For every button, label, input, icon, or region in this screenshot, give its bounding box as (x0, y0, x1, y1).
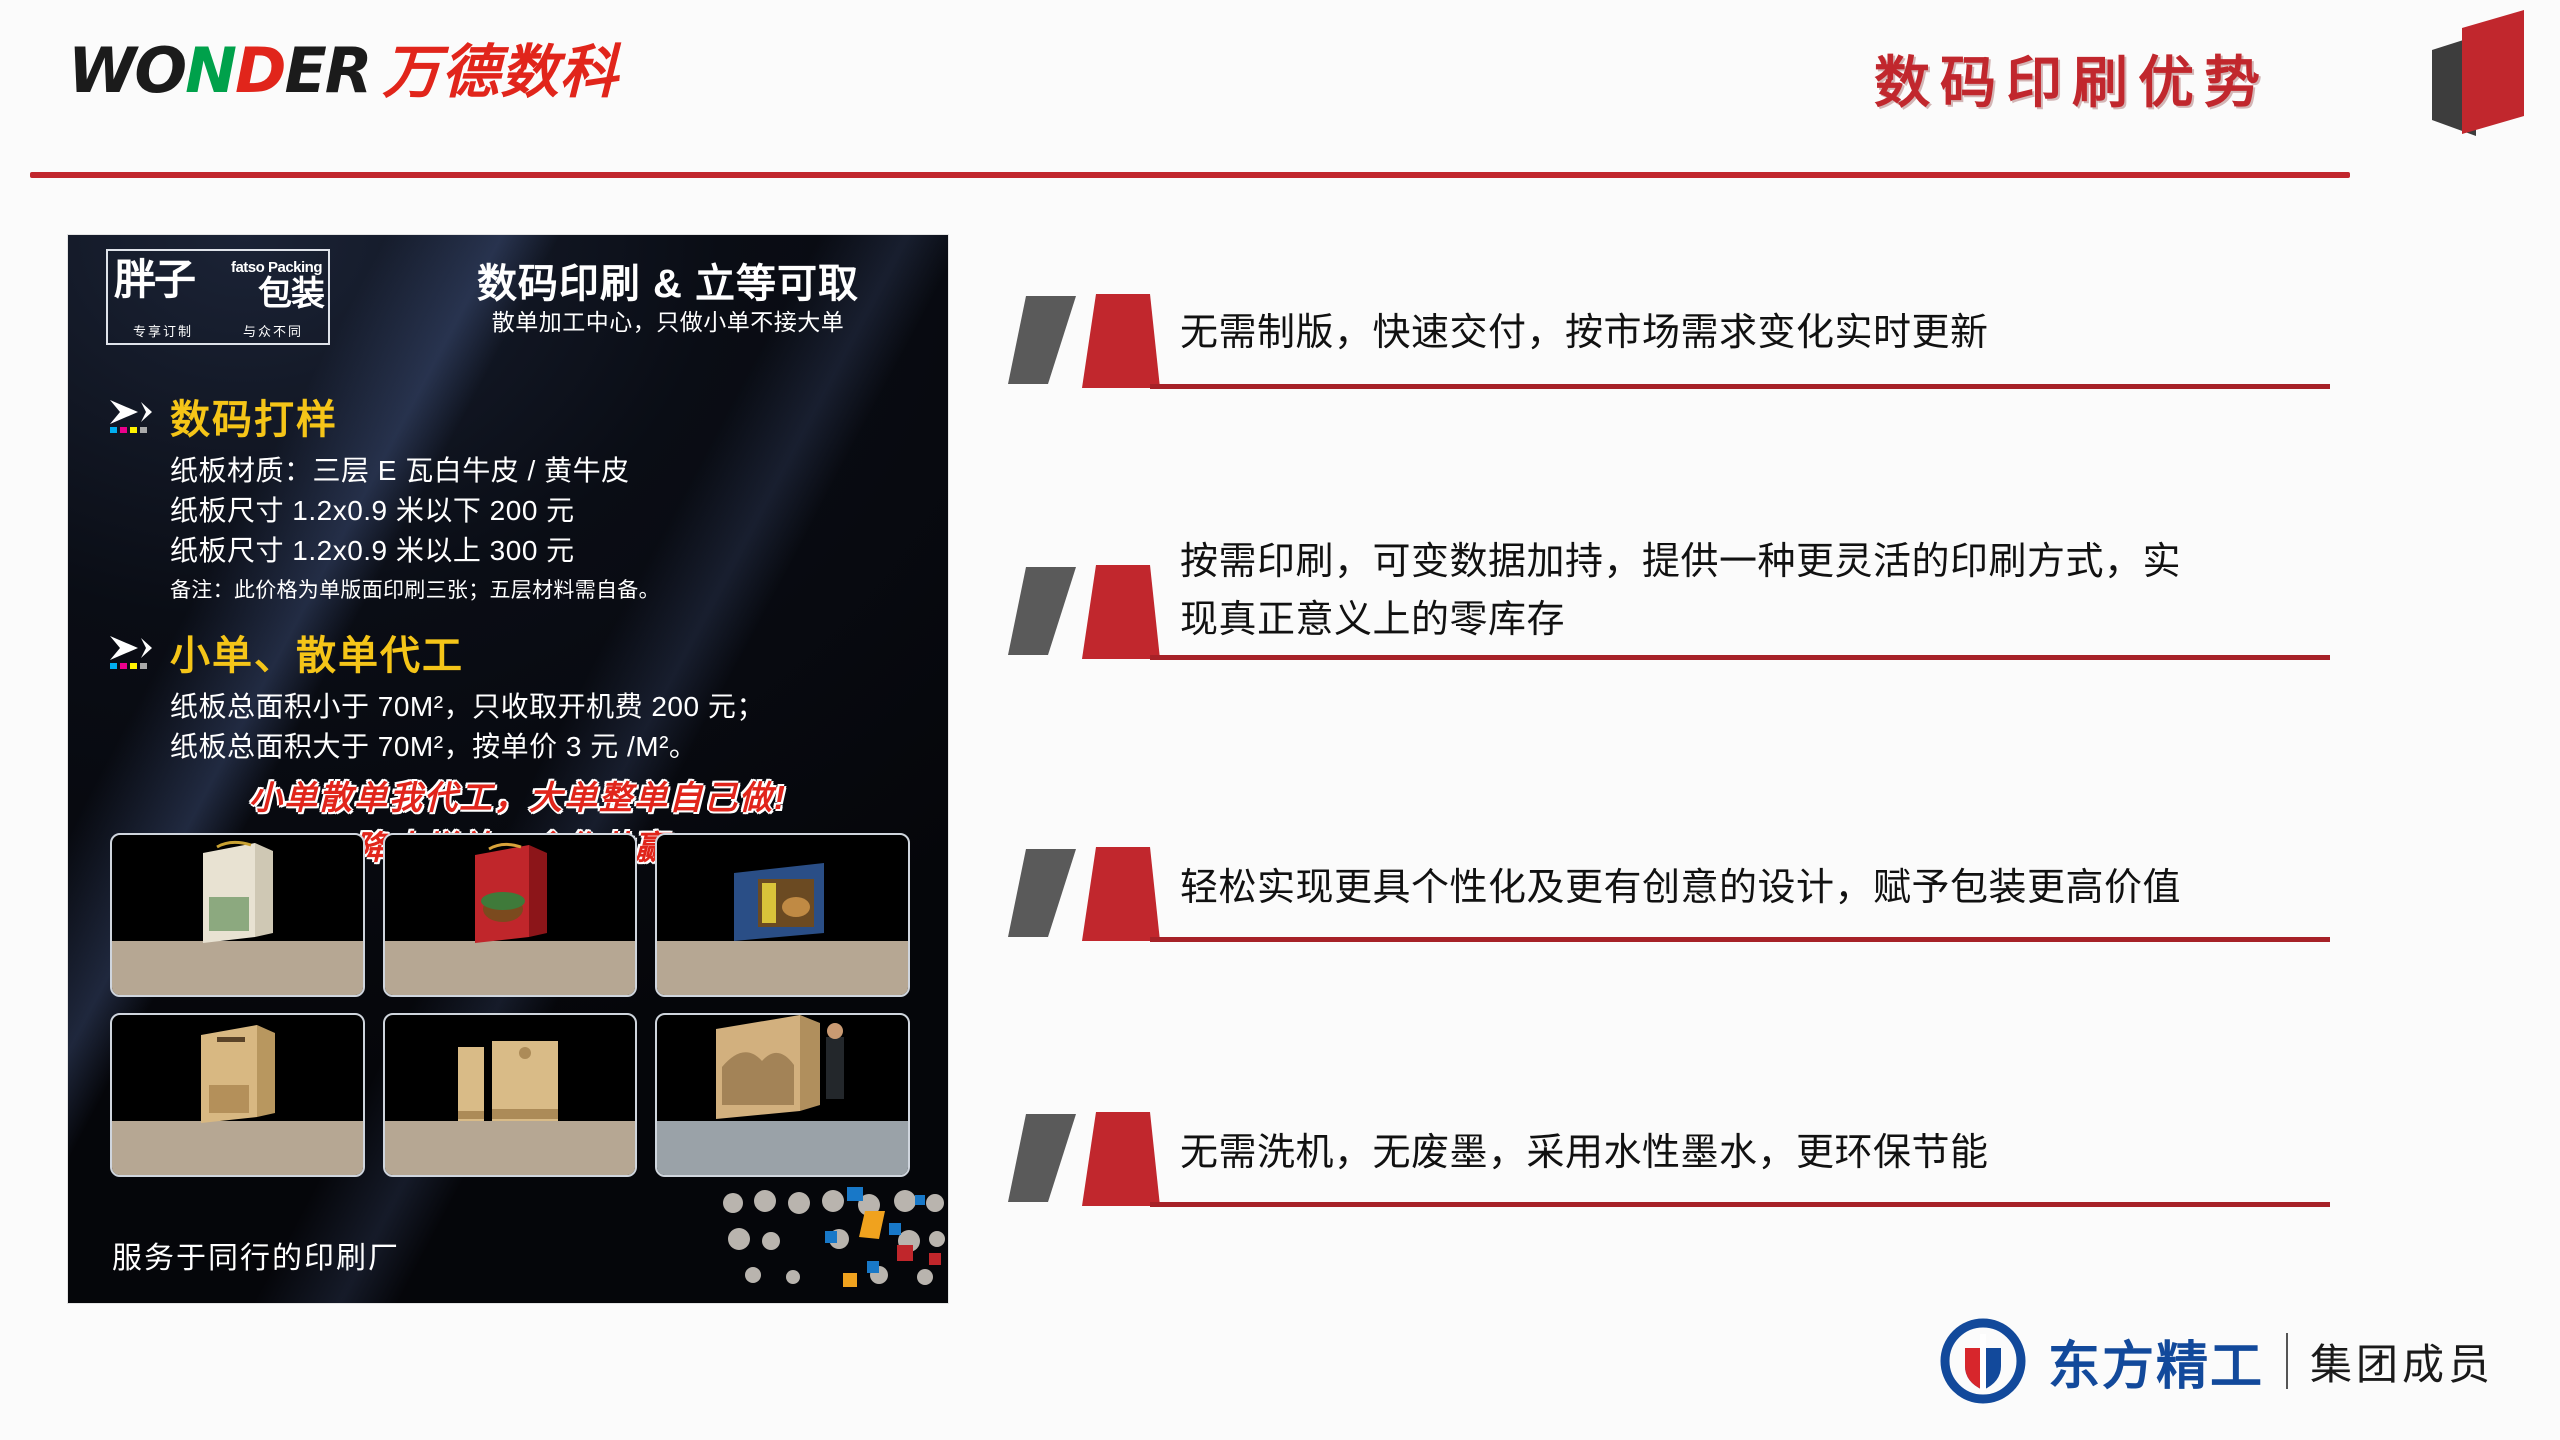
fatso-sub-left: 专享订制 (133, 321, 193, 340)
kraft-box-illustration (191, 1015, 283, 1127)
double-bar-marker-icon (1000, 563, 1175, 661)
fatso-logo-main: 胖子 (114, 259, 194, 301)
product-photo-beef-carton-box (655, 833, 910, 997)
honey-box-illustration (193, 837, 281, 947)
photo-row (110, 833, 910, 997)
bullet-text: 无需洗机，无废墨，采用水性墨水，更环保节能 (1180, 1126, 2330, 1181)
poster-section-digital-proofing: 数码打样 纸板材质：三层 E 瓦白牛皮 / 黄牛皮 纸板尺寸 1.2x0.9 米… (108, 387, 928, 604)
footer-membership-label: 集团成员 (2310, 1331, 2494, 1392)
bullet-text: 无需制版，快速交付，按市场需求变化实时更新 (1180, 306, 2330, 361)
section-heading: 数码打样 (108, 387, 928, 445)
poster-subheadline: 散单加工中心，只做小单不接大单 (398, 303, 938, 337)
footer-divider (2286, 1333, 2288, 1389)
bullet-underline (1150, 937, 2330, 942)
double-bar-marker-icon (1000, 845, 1175, 943)
poster-headline: 数码印刷 & 立等可取 (398, 251, 938, 309)
fatso-logo-subtitle: 专享订制 与众不同 (108, 321, 328, 340)
arrow-bullet-icon (108, 396, 154, 436)
bullet-text: 按需印刷，可变数据加持，提供一种更灵活的印刷方式，实 (1180, 535, 2330, 590)
section-line: 纸板材质：三层 E 瓦白牛皮 / 黄牛皮 (108, 451, 928, 491)
section-note: 备注：此价格为单版面印刷三张；五层材料需自备。 (108, 574, 928, 604)
poster-section-small-order-oem: 小单、散单代工 纸板总面积小于 70M²，只收取开机费 200 元； 纸板总面积… (108, 623, 928, 767)
classic-wine-box-illustration (450, 1031, 570, 1127)
product-photo-red-gift-box (383, 833, 638, 997)
footer-company-name: 东方精工 (2048, 1324, 2264, 1399)
poster-footer-text: 服务于同行的印刷厂 (112, 1233, 400, 1277)
header-divider (30, 172, 2350, 178)
double-bar-marker-icon (1000, 1110, 1175, 1208)
product-photo-honey-gift-box (110, 833, 365, 997)
bullet-underline (1150, 655, 2330, 660)
red-gift-box-illustration (463, 837, 557, 947)
dot-pattern-decoration (719, 1187, 948, 1297)
fatso-logo-english: fatso Packing (231, 259, 322, 276)
wonder-brand-logo: WONDER 万德数科 (68, 42, 619, 102)
brand-chinese-name: 万德数科 (383, 44, 619, 102)
bullet-text: 轻松实现更具个性化及更有创意的设计，赋予包装更高价值 (1180, 861, 2330, 916)
product-photo-kraft-handle-box (110, 1013, 365, 1177)
section-title: 数码打样 (170, 387, 338, 445)
arrow-bullet-icon (108, 632, 154, 672)
double-bar-marker-icon (1000, 292, 1175, 390)
section-line: 纸板尺寸 1.2x0.9 米以上 300 元 (108, 531, 928, 571)
bullet-underline (1150, 1202, 2330, 1207)
bookmark-icon (2424, 8, 2532, 160)
photo-row (110, 1013, 910, 1177)
dongfang-jinggong-logo-icon (1940, 1318, 2026, 1404)
section-line: 纸板总面积小于 70M²，只收取开机费 200 元； (108, 687, 928, 727)
section-line: 纸板总面积大于 70M²，按单价 3 元 /M²。 (108, 727, 928, 767)
large-kraft-box-illustration (708, 1013, 858, 1127)
product-photo-large-kraft-box (655, 1013, 910, 1177)
fatso-sub-right: 与众不同 (243, 321, 303, 340)
section-line: 纸板尺寸 1.2x0.9 米以下 200 元 (108, 491, 928, 531)
wonder-wordmark: WONDER (68, 40, 371, 102)
section-title: 小单、散单代工 (170, 623, 464, 681)
section-heading: 小单、散单代工 (108, 623, 928, 681)
product-photo-classic-wine-box (383, 1013, 638, 1177)
slide-header: WONDER 万德数科 数码印刷优势 (0, 0, 2560, 180)
product-photo-grid (110, 833, 910, 1193)
poster-slogan-line-1: 小单散单我代工，大单整单自己做! (108, 773, 928, 823)
bullet-underline (1150, 384, 2330, 389)
page-title: 数码印刷优势 (1874, 52, 2270, 114)
fatso-packing-logo: 胖子 fatso Packing 包装 专享订制 与众不同 (106, 249, 330, 345)
fatso-logo-pack: 包装 (258, 277, 324, 311)
bullet-text: 现真正意义上的零库存 (1180, 593, 2330, 648)
poster-header: 胖子 fatso Packing 包装 专享订制 与众不同 数码印刷 & 立等可… (68, 235, 948, 353)
promo-poster-image: 胖子 fatso Packing 包装 专享订制 与众不同 数码印刷 & 立等可… (68, 235, 948, 1303)
beef-box-illustration (728, 855, 838, 947)
group-member-footer-logo: 东方精工 集团成员 (1940, 1318, 2494, 1404)
